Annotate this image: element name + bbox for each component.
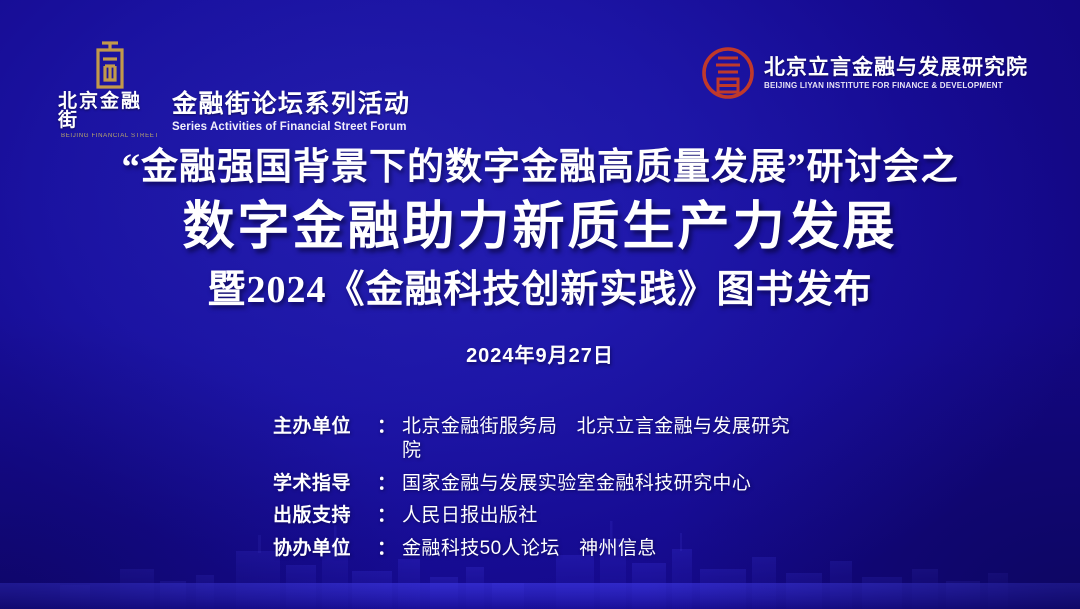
liyan-org-en: BEIJING LIYAN INSTITUTE FOR FINANCE & DE… [764,81,1028,90]
info-colon: ： [377,537,396,561]
info-value: 人民日报出版社 [402,504,538,528]
financial-street-logo: 北京金融街 BEIJING FINANCIAL STREET 金融街论坛系列活动… [58,40,411,139]
info-row-organizer: 主办单位 ： 北京金融街服务局 北京立言金融与发展研究院 [273,415,807,463]
financial-street-forum-title: 金融街论坛系列活动 Series Activities of Financial… [172,92,411,139]
info-label: 协办单位 [273,537,377,561]
info-value: 国家金融与发展实验室金融科技研究中心 [402,472,751,496]
forum-title-cn: 金融街论坛系列活动 [172,92,411,118]
poster-title-line3: 暨2024《金融科技创新实践》图书发布 [0,268,1080,313]
financial-street-mark: 北京金融街 BEIJING FINANCIAL STREET [58,40,162,139]
info-value: 金融科技50人论坛 神州信息 [402,537,657,561]
info-row-publishing-support: 出版支持 ： 人民日报出版社 [273,504,807,528]
poster-title-line2: 数字金融助力新质生产力发展 [0,198,1080,258]
info-label: 主办单位 [273,415,377,439]
poster-title-line1: “金融强国背景下的数字金融高质量发展”研讨会之 [0,146,1080,190]
info-colon: ： [377,415,396,439]
info-label: 学术指导 [273,472,377,496]
info-row-co-organizer: 协办单位 ： 金融科技50人论坛 神州信息 [273,537,807,561]
liyan-org-cn: 北京立言金融与发展研究院 [764,56,1028,79]
financial-street-org-en: BEIJING FINANCIAL STREET [61,133,159,139]
poster-title-block: “金融强国背景下的数字金融高质量发展”研讨会之 数字金融助力新质生产力发展 暨2… [0,146,1080,368]
organizer-info-block: 主办单位 ： 北京金融街服务局 北京立言金融与发展研究院 学术指导 ： 国家金融… [0,415,1080,570]
info-colon: ： [377,472,396,496]
financial-street-org-cn: 北京金融街 [58,92,162,130]
info-row-academic-guidance: 学术指导 ： 国家金融与发展实验室金融科技研究中心 [273,472,807,496]
skyline-ground [0,583,1080,609]
header-logo-row: 北京金融街 BEIJING FINANCIAL STREET 金融街论坛系列活动… [0,0,1080,135]
info-colon: ： [377,504,396,528]
info-label: 出版支持 [273,504,377,528]
event-date: 2024年9月27日 [0,339,1080,368]
forum-title-en: Series Activities of Financial Street Fo… [172,121,411,133]
liyan-institute-red-seal-icon [701,46,755,100]
liyan-institute-names: 北京立言金融与发展研究院 BEIJING LIYAN INSTITUTE FOR… [764,56,1028,90]
info-value: 北京金融街服务局 北京立言金融与发展研究院 [402,415,807,463]
event-poster: 北京金融街 BEIJING FINANCIAL STREET 金融街论坛系列活动… [0,0,1080,609]
financial-street-gold-seal-icon [88,40,132,90]
liyan-institute-logo: 北京立言金融与发展研究院 BEIJING LIYAN INSTITUTE FOR… [701,46,1028,100]
